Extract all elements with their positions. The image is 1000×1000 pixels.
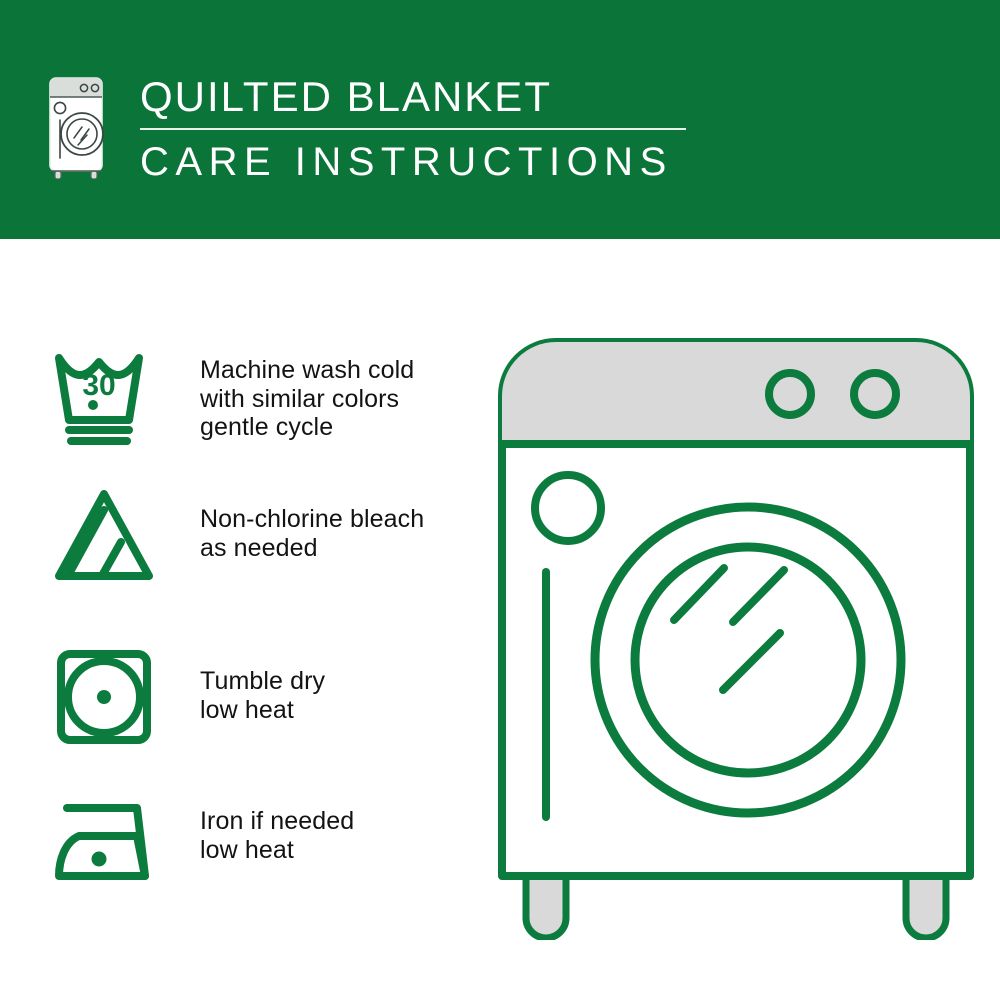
page-title-primary: QUILTED BLANKET <box>140 72 700 122</box>
tumble-dry-low-icon <box>44 644 164 754</box>
care-label-wash: Machine wash cold with similar colors ge… <box>200 356 414 442</box>
wash-temperature-value: 30 <box>82 369 115 402</box>
non-chlorine-bleach-triangle-icon <box>44 484 164 589</box>
wash-tub-30-icon: 30 <box>44 342 164 452</box>
care-label-tumble-dry: Tumble dry low heat <box>200 667 325 724</box>
left-leg <box>526 870 566 938</box>
title-divider <box>140 128 686 130</box>
care-label-iron: Iron if needed low heat <box>200 807 354 864</box>
washing-machine-icon <box>44 74 112 179</box>
care-label-bleach: Non-chlorine bleach as needed <box>200 505 424 562</box>
iron-low-heat-icon <box>44 794 164 889</box>
care-instructions-infographic: QUILTED BLANKET CARE INSTRUCTIONS 30 Mac… <box>0 0 1000 1000</box>
header-banner: QUILTED BLANKET CARE INSTRUCTIONS <box>0 0 1000 239</box>
right-leg <box>906 870 946 938</box>
header-title-block: QUILTED BLANKET CARE INSTRUCTIONS <box>140 72 700 186</box>
page-title-secondary: CARE INSTRUCTIONS <box>140 138 700 186</box>
front-load-washing-machine-illustration <box>490 330 980 940</box>
care-instruction-list: 30 Machine wash cold with similar colors… <box>0 239 500 1000</box>
